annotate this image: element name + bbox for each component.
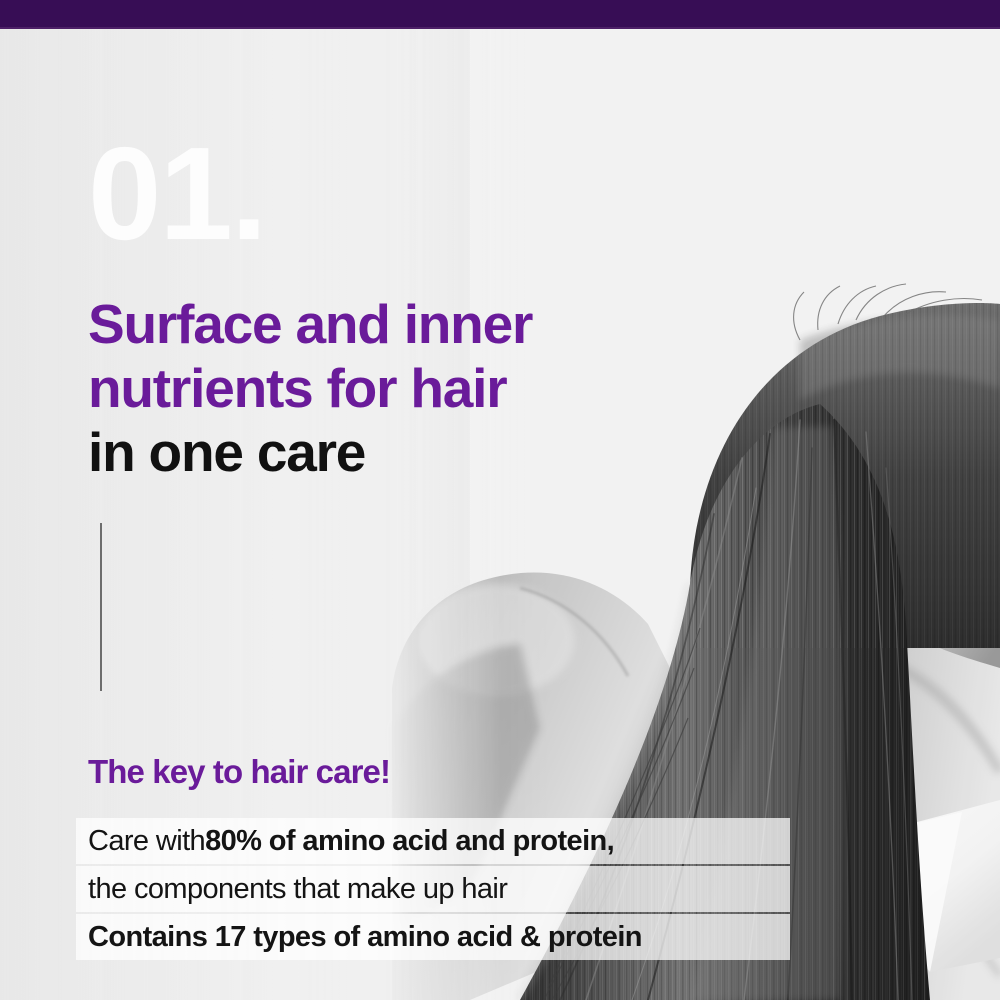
top-purple-bar	[0, 0, 1000, 27]
headline-line-1: Surface and inner	[88, 292, 532, 356]
promo-banner: 01. Surface and inner nutrients for hair…	[0, 0, 1000, 1000]
copy-row-1-segment-2: 80% of amino acid and protein,	[205, 818, 614, 864]
headline: Surface and inner nutrients for hair in …	[88, 292, 532, 484]
copy-row-1-segment-1: Care with	[88, 818, 205, 864]
copy-block: Care with 80% of amino acid and protein,…	[76, 818, 790, 960]
sub-headline: The key to hair care!	[88, 752, 390, 792]
headline-line-3: in one care	[88, 420, 532, 484]
vertical-divider	[100, 523, 102, 691]
top-bar-edge	[0, 27, 1000, 29]
copy-row-1: Care with 80% of amino acid and protein,	[76, 818, 790, 864]
step-number: 01.	[88, 128, 266, 260]
headline-line-2: nutrients for hair	[88, 356, 532, 420]
copy-row-3-segment-1: Contains 17 types of amino acid & protei…	[88, 914, 642, 960]
copy-row-3: Contains 17 types of amino acid & protei…	[76, 914, 790, 960]
copy-row-2-segment-1: the components that make up hair	[88, 866, 507, 912]
copy-row-2: the components that make up hair	[76, 866, 790, 912]
